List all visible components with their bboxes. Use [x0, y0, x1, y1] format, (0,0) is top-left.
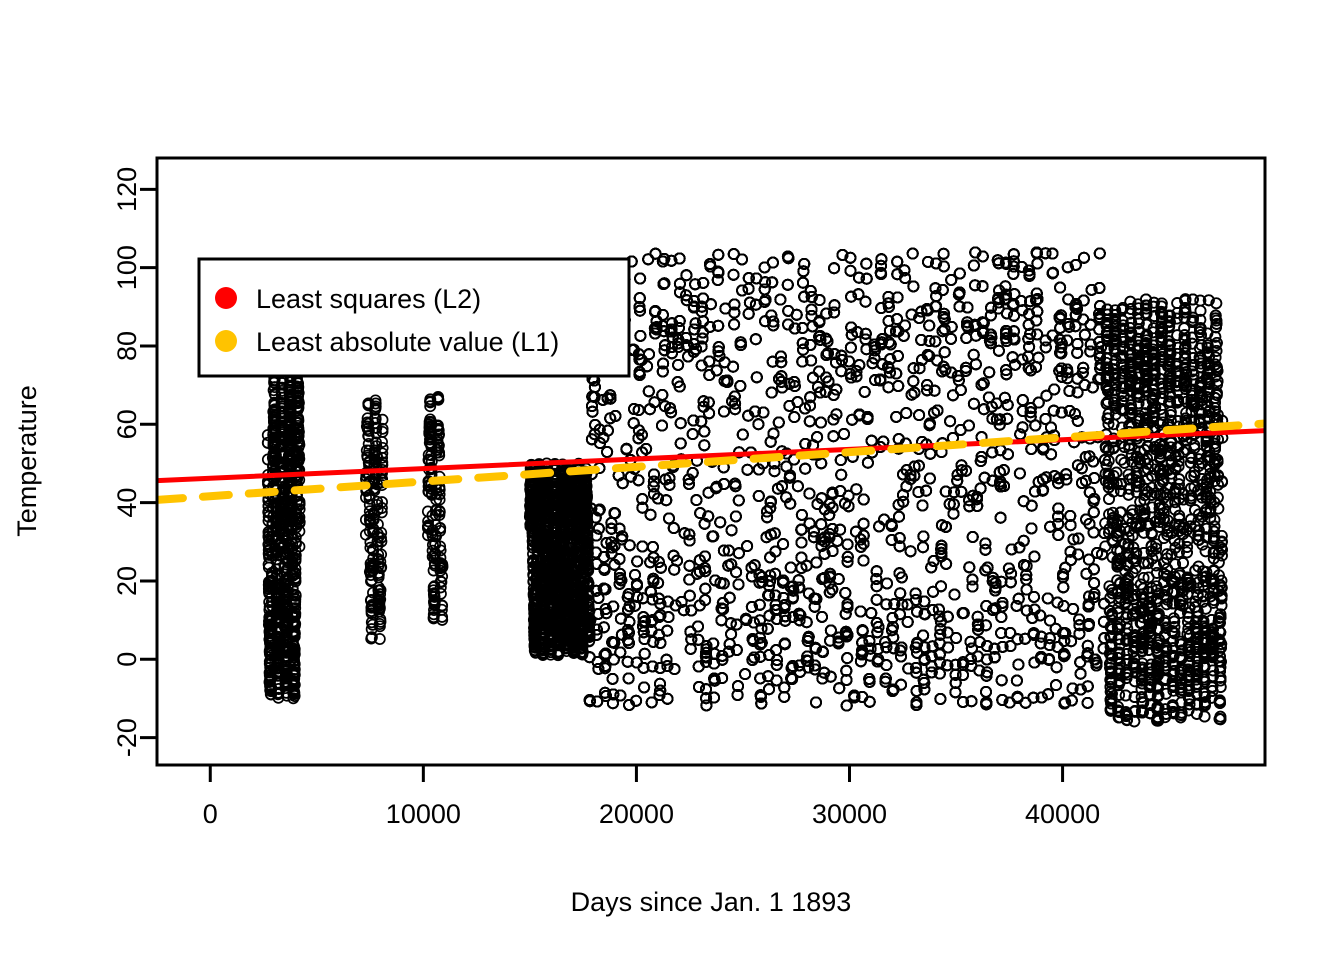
chart-root: 010000200003000040000 -20020406080100120…: [0, 0, 1344, 960]
scatter-plot-figure: 010000200003000040000 -20020406080100120…: [0, 0, 1344, 960]
